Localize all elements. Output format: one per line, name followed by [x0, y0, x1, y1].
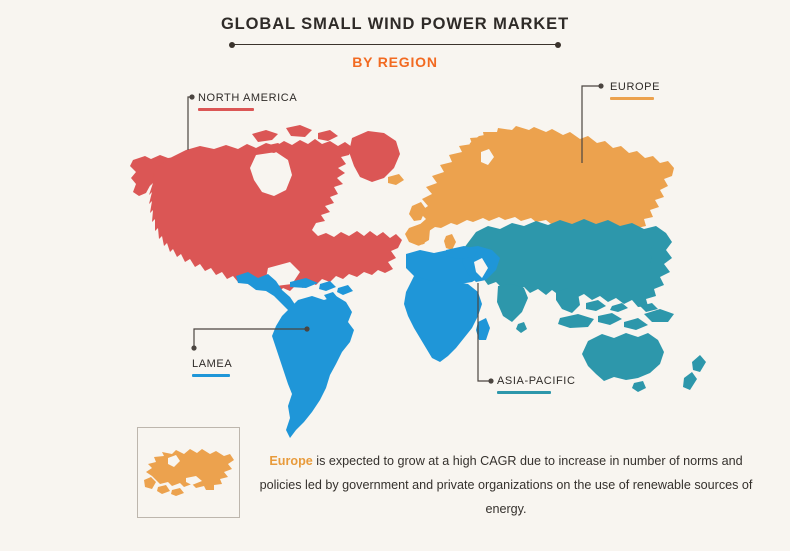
shape-south-america: [272, 296, 354, 438]
map-region-asia-pacific[interactable]: [464, 219, 706, 392]
shape-iberia: [405, 224, 430, 246]
region-underline-asia-pacific: [497, 391, 551, 394]
shape-pacific-islands: [610, 303, 658, 312]
footer-note: Europe is expected to grow at a high CAG…: [137, 427, 753, 520]
region-label-europe[interactable]: EUROPE: [610, 81, 660, 100]
shape-greenland: [349, 131, 400, 182]
region-label-north-america[interactable]: NORTH AMERICA: [198, 92, 297, 111]
shape-tasmania: [632, 381, 646, 392]
region-label-asia-pacific[interactable]: ASIA-PACIFIC: [497, 375, 576, 394]
europe-thumbnail-box: [137, 427, 240, 518]
shape-iceland: [388, 174, 404, 185]
region-underline-europe: [610, 97, 654, 100]
footer-note-highlight: Europe: [269, 454, 312, 468]
leader-line-north-america: [188, 97, 194, 150]
shape-sri-lanka: [516, 322, 527, 333]
region-label-lamea[interactable]: LAMEA: [192, 358, 232, 377]
region-underline-north-america: [198, 108, 254, 111]
shape-australia: [582, 333, 664, 381]
leader-dot-lamea-map: [304, 326, 309, 331]
europe-russia-map-icon: [142, 440, 237, 506]
leader-dot-europe: [598, 83, 603, 88]
shape-british-isles: [409, 202, 426, 221]
leader-dot-north-america: [189, 94, 194, 99]
leader-dot-lamea: [191, 345, 196, 350]
shape-new-zealand: [683, 355, 706, 390]
footer-note-text: Europe is expected to grow at a high CAG…: [259, 449, 753, 521]
region-label-north-america-text: NORTH AMERICA: [198, 92, 297, 105]
region-underline-lamea: [192, 374, 230, 377]
footer-note-body: is expected to grow at a high CAGR due t…: [260, 454, 753, 516]
leader-dot-asia-pacific: [488, 378, 493, 383]
infographic-root: GLOBAL SMALL WIND POWER MARKET BY REGION: [0, 0, 790, 551]
shape-india: [497, 284, 528, 322]
map-region-north-america[interactable]: [130, 125, 402, 294]
region-label-asia-pacific-text: ASIA-PACIFIC: [497, 375, 576, 388]
region-label-lamea-text: LAMEA: [192, 358, 232, 371]
shape-caribbean: [290, 278, 353, 301]
shape-sub-saharan-africa: [404, 276, 482, 362]
region-label-europe-text: EUROPE: [610, 81, 660, 94]
